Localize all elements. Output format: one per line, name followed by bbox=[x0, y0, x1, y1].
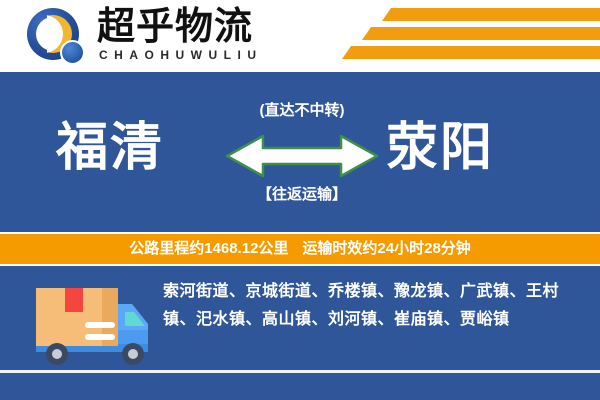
duration-text: 运输时效约24小时28分钟 bbox=[302, 234, 470, 264]
brand-name-cn: 超乎物流 bbox=[97, 6, 253, 48]
bidirectional-arrow-icon bbox=[225, 134, 379, 178]
logistics-route-banner: 超乎物流 CHAOHUWULIU 福清 (直达不中转) 【往返运输】 荥阳 公路… bbox=[0, 0, 600, 400]
orange-speed-stripes-icon bbox=[320, 6, 600, 64]
bottom-divider bbox=[0, 370, 600, 373]
direct-service-note: (直达不中转) bbox=[222, 100, 382, 122]
stripe-3 bbox=[342, 46, 600, 59]
distance-text: 公路里程约1468.12公里 bbox=[129, 234, 288, 264]
route-middle-group: (直达不中转) 【往返运输】 bbox=[222, 100, 382, 220]
circle-q-logo-icon bbox=[27, 8, 89, 66]
brand-header: 超乎物流 CHAOHUWULIU bbox=[0, 0, 600, 72]
brand-name-en: CHAOHUWULIU bbox=[99, 48, 263, 62]
stripe-1 bbox=[382, 8, 600, 21]
coverage-areas-text: 索河街道、京城街道、乔楼镇、豫龙镇、广武镇、王村镇、汜水镇、高山镇、刘河镇、崔庙… bbox=[163, 278, 581, 334]
round-trip-note: 【往返运输】 bbox=[222, 184, 382, 206]
delivery-truck-icon bbox=[28, 278, 154, 368]
origin-city: 福清 bbox=[56, 108, 164, 188]
coverage-panel: 索河街道、京城街道、乔楼镇、豫龙镇、广武镇、王村镇、汜水镇、高山镇、刘河镇、崔庙… bbox=[0, 266, 600, 400]
destination-city: 荥阳 bbox=[386, 108, 494, 188]
route-panel: 福清 (直达不中转) 【往返运输】 荥阳 bbox=[0, 72, 600, 232]
stripe-2 bbox=[362, 27, 600, 40]
logo-dot-shape bbox=[60, 40, 85, 65]
route-info-bar: 公路里程约1468.12公里 运输时效约24小时28分钟 bbox=[0, 232, 600, 266]
